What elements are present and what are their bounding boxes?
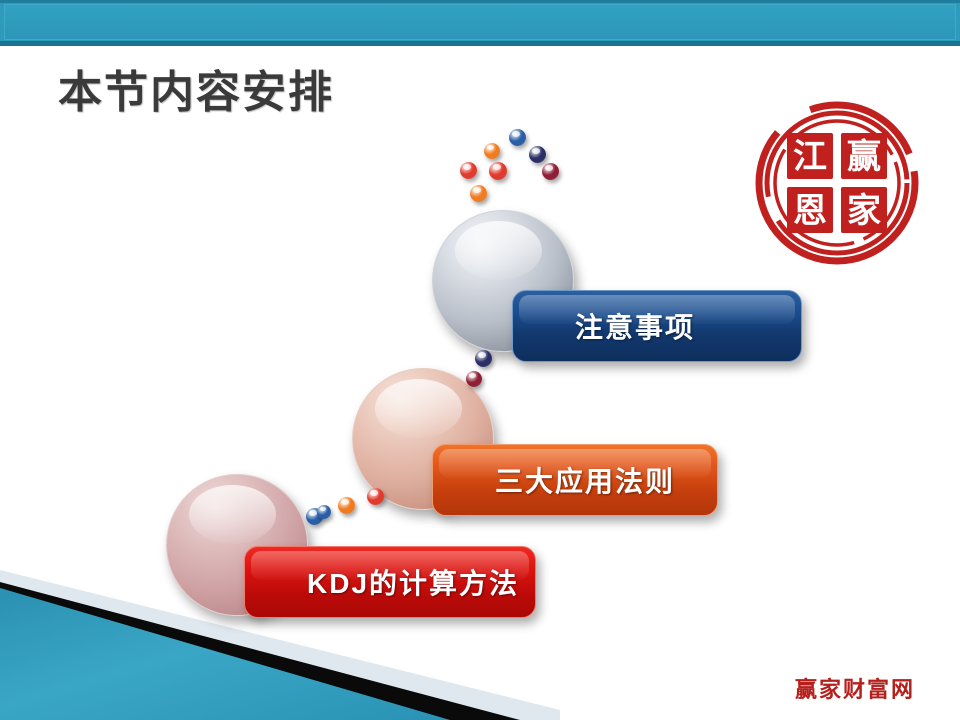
ball-orange-3 (338, 497, 355, 514)
slide-canvas: 本节内容安排 江 赢 恩 家 (0, 0, 960, 720)
banner-item-rules[interactable]: 三大应用法则 (432, 444, 718, 516)
ball-navy-2 (475, 350, 492, 367)
seal-char-2: 赢 (847, 137, 881, 177)
banner-item-calc[interactable]: KDJ的计算方法 (244, 546, 536, 618)
seal-char-3: 恩 (793, 191, 827, 231)
header-bar-bottom-line (0, 41, 960, 46)
header-bar (0, 0, 960, 46)
ball-red-2 (489, 162, 507, 180)
ball-blue-1 (509, 129, 526, 146)
banner-label-notes: 注意事项 (575, 306, 695, 346)
banner-label-rules: 三大应用法则 (495, 460, 675, 500)
seal-char-4: 家 (847, 191, 881, 231)
seal-char-1: 江 (793, 137, 827, 177)
ball-navy-1 (529, 146, 546, 163)
site-watermark: 赢家财富网 (795, 672, 915, 704)
ball-orange-1 (484, 143, 500, 159)
banner-label-calc: KDJ的计算方法 (307, 562, 519, 602)
ball-darkred-2 (466, 371, 482, 387)
ball-orange-2 (470, 185, 487, 202)
banner-item-notes[interactable]: 注意事项 (512, 290, 802, 362)
ball-red-1 (460, 162, 477, 179)
header-bar-top-line (0, 0, 960, 3)
company-seal-stamp: 江 赢 恩 家 (752, 98, 922, 268)
ball-darkred-1 (542, 163, 559, 180)
page-title: 本节内容安排 (58, 56, 334, 120)
ball-red-3 (367, 488, 384, 505)
header-bar-inner (4, 4, 956, 40)
ball-blue-3 (317, 505, 331, 519)
